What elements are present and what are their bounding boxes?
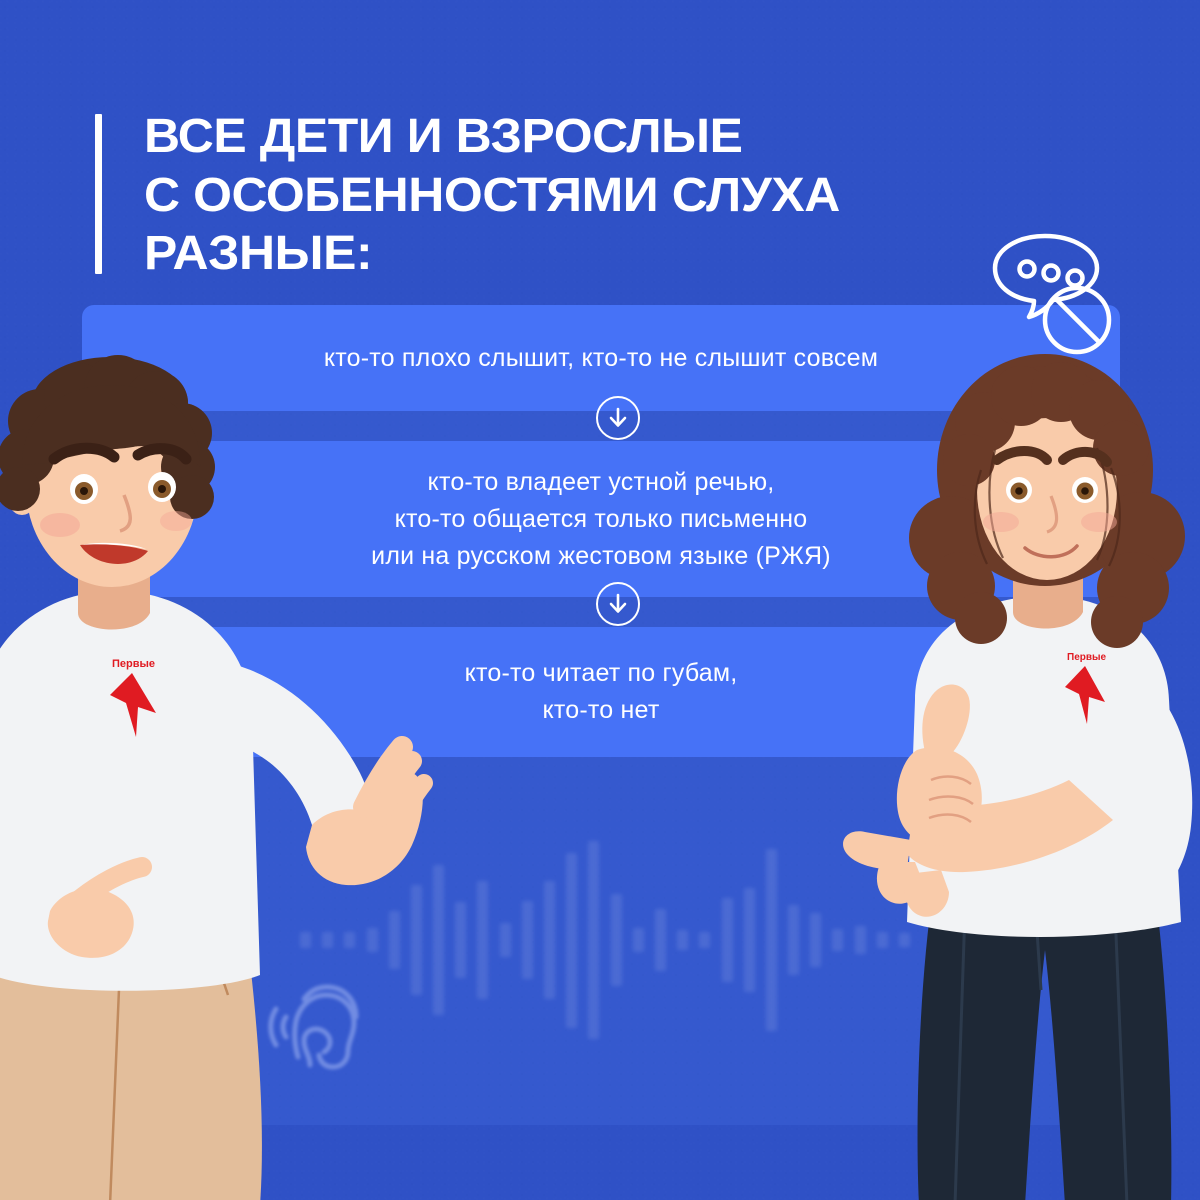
- waveform-bar: [677, 930, 688, 950]
- waveform-bar: [766, 849, 777, 1031]
- bubble-dot-1: [1020, 262, 1035, 277]
- waveform-bar: [744, 888, 755, 992]
- waveform-bar: [722, 898, 733, 982]
- waveform-bar: [699, 932, 710, 948]
- waveform-bar: [566, 853, 577, 1028]
- prohibited-slash: [1055, 298, 1099, 342]
- title-line-2: С ОСОБЕННОСТЯМИ СЛУХА: [144, 167, 840, 226]
- waveform-bar: [522, 901, 533, 979]
- info-bar-3-line-2: кто-то нет: [465, 692, 738, 729]
- bubble-dot-3: [1068, 271, 1083, 286]
- svg-text:Первые: Первые: [112, 658, 155, 670]
- page-title: ВСЕ ДЕТИ И ВЗРОСЛЫЕ С ОСОБЕННОСТЯМИ СЛУХ…: [95, 108, 975, 284]
- title-text: ВСЕ ДЕТИ И ВЗРОСЛЫЕ С ОСОБЕННОСТЯМИ СЛУХ…: [144, 108, 840, 284]
- waveform-bar: [832, 929, 843, 951]
- bubble-dot-2: [1044, 266, 1059, 281]
- info-bar-3-text: кто-то читает по губам, кто-то нет: [465, 655, 738, 729]
- info-bar-3-line-1: кто-то читает по губам,: [465, 655, 738, 692]
- waveform-bar: [477, 881, 488, 999]
- info-bar-2-line-2: кто-то общается только письменно: [371, 501, 831, 538]
- arrow-down-circle-icon-1: [596, 396, 640, 440]
- infographic-canvas: ВСЕ ДЕТИ И ВЗРОСЛЫЕ С ОСОБЕННОСТЯМИ СЛУХ…: [0, 0, 1200, 1200]
- speech-bubble-no-speech-icon: [975, 228, 1125, 368]
- waveform-bar: [455, 902, 466, 978]
- arrow-down-circle-icon-2: [596, 582, 640, 626]
- waveform-bar: [544, 881, 555, 999]
- title-accent-rule: [95, 114, 102, 274]
- girl-character: Первые: [845, 350, 1200, 1200]
- info-bar-2-text: кто-то владеет устной речью, кто-то обща…: [371, 464, 831, 575]
- boy-character: Первые: [0, 355, 440, 1200]
- waveform-bar: [633, 928, 644, 952]
- waveform-bar: [788, 905, 799, 975]
- info-bar-2-line-1: кто-то владеет устной речью,: [371, 464, 831, 501]
- info-bar-2-line-3: или на русском жестовом языке (РЖЯ): [371, 538, 831, 575]
- waveform-bar: [611, 894, 622, 986]
- waveform-bar: [810, 913, 821, 967]
- title-line-1: ВСЕ ДЕТИ И ВЗРОСЛЫЕ: [144, 108, 840, 167]
- svg-text:Первые: Первые: [1067, 652, 1107, 663]
- waveform-bar: [588, 841, 599, 1039]
- title-line-3: РАЗНЫЕ:: [144, 225, 840, 284]
- waveform-bar: [655, 909, 666, 971]
- waveform-bar: [500, 923, 511, 957]
